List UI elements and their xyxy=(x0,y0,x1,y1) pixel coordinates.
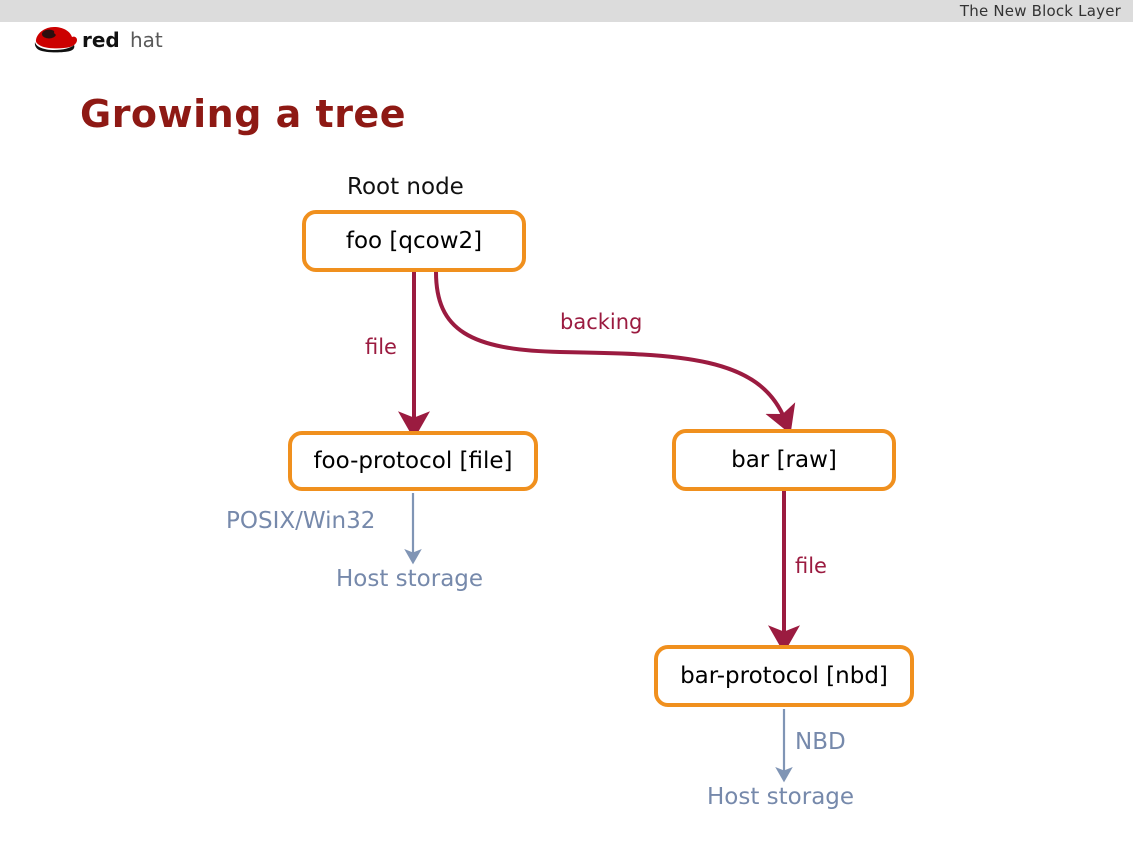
label-root-node: Root node xyxy=(347,174,464,200)
diagram-edges xyxy=(0,0,1133,850)
label-edge-file-left: file xyxy=(365,335,397,359)
label-edge-backing: backing xyxy=(560,310,642,334)
label-host-storage-left: Host storage xyxy=(336,566,483,592)
node-bar[interactable]: bar [raw] xyxy=(672,429,896,491)
edge-foo-to-bar-backing xyxy=(436,272,785,420)
tree-diagram: foo [qcow2] foo-protocol [file] bar [raw… xyxy=(0,0,1133,850)
node-foo-protocol[interactable]: foo-protocol [file] xyxy=(288,431,538,491)
node-foo[interactable]: foo [qcow2] xyxy=(302,210,526,272)
label-edge-posix-win32: POSIX/Win32 xyxy=(226,508,375,534)
label-edge-nbd: NBD xyxy=(795,729,846,755)
label-host-storage-right: Host storage xyxy=(707,784,854,810)
label-edge-file-right: file xyxy=(795,554,827,578)
node-bar-protocol[interactable]: bar-protocol [nbd] xyxy=(654,645,914,707)
